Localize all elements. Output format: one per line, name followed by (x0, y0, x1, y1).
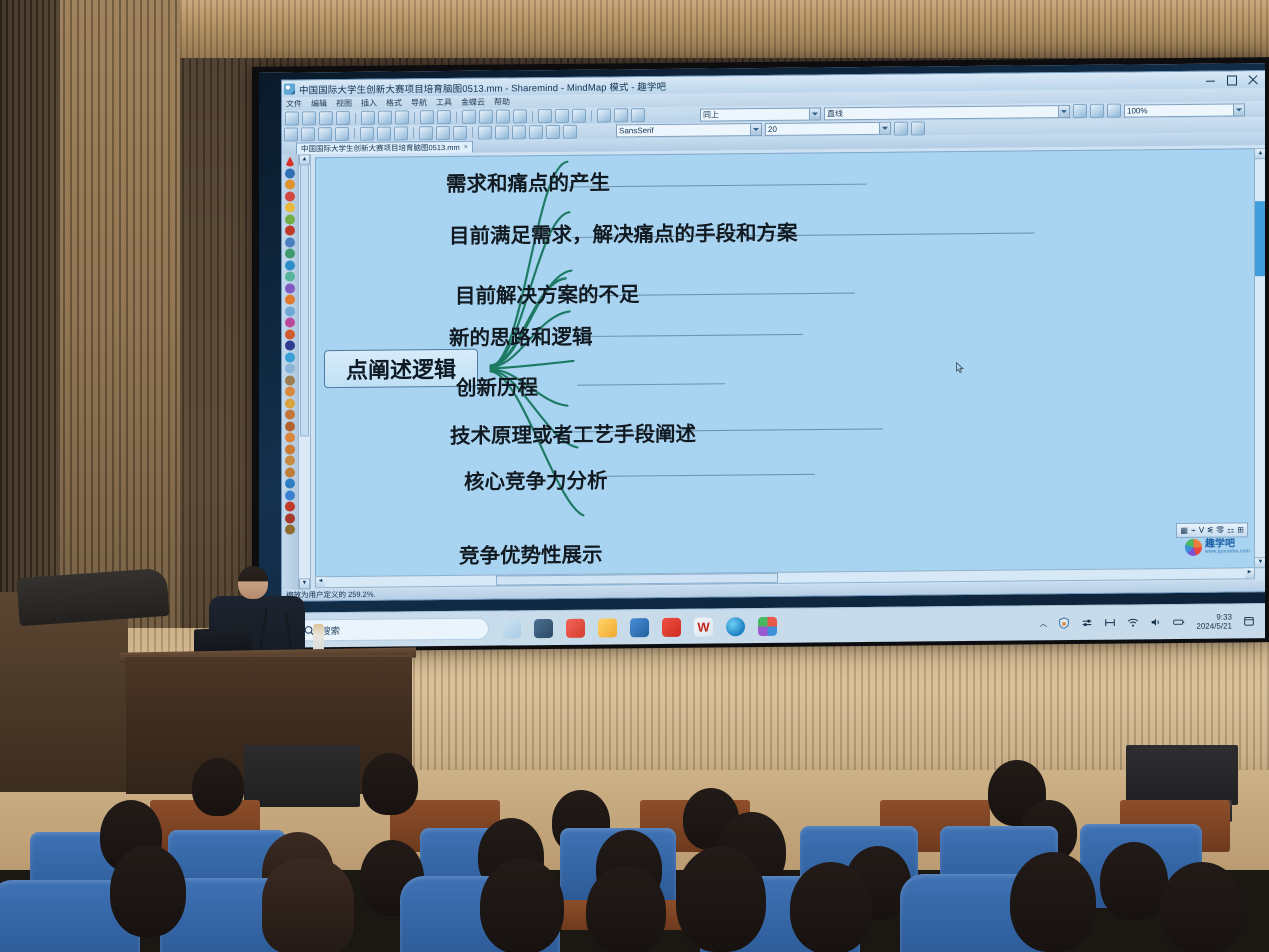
chevron-down-icon[interactable] (879, 123, 890, 134)
taskbar-search-input[interactable]: 搜索 (295, 618, 489, 642)
battery-icon[interactable] (1173, 616, 1185, 628)
quxueba-logo-icon (1185, 539, 1202, 556)
increase-font-icon[interactable] (478, 125, 492, 139)
toolbar-separator (354, 128, 355, 139)
toolbar-separator (413, 127, 414, 138)
taskbar-clock[interactable]: 9:33 2024/5/21 (1196, 612, 1232, 631)
mail-app-icon[interactable] (566, 618, 585, 637)
mindmap-node-7[interactable]: 核心竞争力分析 (464, 463, 608, 494)
ime-icon[interactable] (1081, 617, 1093, 629)
audience-head (362, 753, 418, 815)
scroll-down-button[interactable]: ▼ (1255, 557, 1265, 567)
toggle-folded-icon[interactable] (284, 127, 298, 141)
zoom-out-icon[interactable] (496, 109, 510, 123)
toolbar-separator (532, 111, 533, 122)
clock-date: 2024/5/21 (1196, 621, 1232, 631)
bulb-icon[interactable] (285, 202, 295, 212)
clock-icon[interactable] (285, 260, 295, 270)
projection-screen: 中国国际大学生创新大赛项目培育脑图0513.mm - Sharemind - M… (259, 63, 1265, 648)
gear-icon[interactable] (285, 444, 295, 454)
new-file-icon[interactable] (285, 111, 299, 125)
pencil-icon[interactable] (285, 375, 295, 385)
clock-time: 9:33 (1216, 612, 1232, 621)
bookmark-icon[interactable] (285, 501, 295, 511)
menu-item-tools[interactable]: 工具 (436, 97, 452, 108)
minimize-icon[interactable] (1205, 75, 1216, 86)
chevron-down-icon[interactable] (1058, 106, 1069, 117)
font-larger-icon[interactable] (538, 109, 552, 123)
export-icon[interactable] (336, 111, 350, 125)
style-select-value: 同上 (703, 109, 719, 120)
menu-item-help[interactable]: 帮助 (494, 96, 510, 107)
mini-pen-icon[interactable]: ⌁ (1191, 526, 1196, 535)
key-icon[interactable] (285, 524, 295, 534)
menu-item-edit[interactable]: 编辑 (311, 98, 327, 109)
user-icon[interactable] (285, 421, 295, 431)
icon-rail-scrollbar[interactable]: ▲ ▼ (298, 154, 311, 589)
file-explorer-icon[interactable] (534, 619, 553, 638)
folder-icon[interactable] (285, 455, 295, 465)
volume-icon[interactable] (1150, 616, 1162, 628)
undo-format-icon[interactable] (911, 121, 925, 135)
mini-grid-icon[interactable]: ▦ (1180, 526, 1188, 535)
undo-icon[interactable] (378, 111, 392, 125)
watermark-text: 趣学吧 www.quxueba.com (1205, 539, 1250, 554)
italic-toggle-icon[interactable] (512, 125, 526, 139)
mini-highlight-icon[interactable]: ᓬ (1207, 526, 1213, 535)
notification-icon[interactable] (1243, 615, 1255, 627)
weather-widget-icon[interactable] (502, 619, 521, 638)
info-icon[interactable] (285, 168, 295, 178)
close-icon[interactable] (1247, 74, 1258, 85)
font-name-value: SansSerif (619, 126, 654, 135)
copy-icon[interactable] (437, 110, 451, 124)
speaker-left (244, 745, 360, 807)
style-select[interactable]: 同上 (700, 107, 821, 121)
audience-head (1100, 842, 1168, 920)
document-tab[interactable]: 中国国际大学生创新大赛项目培育脑图0513.mm × (296, 140, 473, 154)
presenter-head (238, 566, 268, 599)
audience-head-front (1010, 852, 1096, 952)
check-icon[interactable] (285, 214, 295, 224)
quxueba-watermark: 趣学吧 www.quxueba.com (1185, 538, 1250, 556)
note-icon[interactable] (1073, 104, 1087, 118)
edge-browser-icon[interactable] (726, 617, 745, 636)
audience-head-front (676, 846, 766, 952)
watermark-url: www.quxueba.com (1205, 549, 1250, 554)
menu-item-format[interactable]: 格式 (386, 97, 402, 108)
zoom-value: 100% (1127, 106, 1147, 115)
scroll-right-button[interactable]: ► (1245, 568, 1254, 578)
cut-icon[interactable] (420, 110, 434, 124)
vertical-scroll-thumb[interactable] (1255, 201, 1265, 276)
line-style-value: 直线 (827, 108, 843, 119)
ceiling-wood-panel (0, 0, 1269, 66)
new-child-icon[interactable] (301, 127, 315, 141)
move-down-icon[interactable] (377, 126, 391, 140)
italic-icon[interactable] (572, 109, 586, 123)
text-align-icon[interactable] (894, 121, 908, 135)
attach-icon[interactable] (285, 363, 295, 373)
cloud-shape-icon[interactable] (419, 126, 433, 140)
window-controls[interactable] (1205, 74, 1265, 86)
line-style-select[interactable]: 直线 (824, 105, 1070, 120)
node-color-icon[interactable] (631, 108, 645, 122)
folder-app-icon[interactable] (598, 618, 617, 637)
globe-icon[interactable] (285, 478, 295, 488)
canvas-vertical-scrollbar[interactable]: ▲ ▼ (1254, 148, 1265, 568)
fit-map-icon[interactable] (513, 109, 527, 123)
phone-icon[interactable] (285, 329, 295, 339)
node-background-icon[interactable] (563, 124, 577, 138)
mini-more-icon[interactable]: ⚏ (1227, 525, 1234, 534)
wps-office-icon[interactable]: W (694, 617, 713, 636)
mindmap-node-3[interactable]: 目前解决方案的不足 (455, 277, 640, 309)
print-icon[interactable] (361, 111, 375, 125)
document-tab-label: 中国国际大学生创新大赛项目培育脑图0513.mm (301, 141, 460, 154)
speaker-right (1126, 745, 1238, 805)
font-smaller-icon[interactable] (555, 109, 569, 123)
font-size-select[interactable]: 20 (765, 122, 891, 136)
maximize-icon[interactable] (1226, 74, 1237, 85)
mindmap[interactable]: 点阐述逻辑 需求和痛点的产生 目前满足需求，解决痛点的手段和方案 目前解决方案的… (316, 149, 1254, 576)
save-icon[interactable] (319, 111, 333, 125)
toolbar-separator (472, 127, 473, 138)
help-icon[interactable] (285, 237, 295, 247)
menu-item-cloud[interactable]: 金蝶云 (461, 97, 485, 108)
new-sibling-icon[interactable] (318, 127, 332, 141)
mindmap-canvas[interactable]: 点阐述逻辑 需求和痛点的产生 目前满足需求，解决痛点的手段和方案 目前解决方案的… (315, 148, 1255, 577)
hyperlink-icon[interactable] (394, 126, 408, 140)
bold-icon[interactable] (597, 108, 611, 122)
toolbar-separator (456, 111, 457, 122)
idea-icon[interactable] (285, 179, 295, 189)
zoom-select[interactable]: 100% (1124, 103, 1245, 117)
mindmap-node-1[interactable]: 需求和痛点的产生 (446, 165, 610, 197)
face-sad-icon[interactable] (285, 409, 295, 419)
link-icon[interactable] (285, 352, 295, 362)
menu-item-file[interactable]: 文件 (286, 98, 302, 109)
scissors-icon[interactable] (614, 108, 628, 122)
bold-toggle-icon[interactable] (529, 125, 543, 139)
decrease-font-icon[interactable] (495, 125, 509, 139)
lock-icon[interactable] (1107, 104, 1121, 118)
mini-shape-icon[interactable]: ᐯ (1199, 526, 1204, 535)
audience-head (192, 758, 244, 816)
scene-root: 中国国际大学生创新大赛项目培育脑图0513.mm - Sharemind - M… (0, 0, 1269, 952)
icon-palette-rail[interactable] (282, 154, 298, 589)
remove-format-icon[interactable] (546, 124, 560, 138)
find-icon[interactable] (462, 110, 476, 124)
audience-head-front (480, 858, 564, 952)
star-icon[interactable] (285, 294, 295, 304)
toolbar-separator (414, 112, 415, 123)
bubble-shape-icon[interactable] (436, 125, 450, 139)
priority-icon[interactable] (285, 156, 295, 166)
move-up-icon[interactable] (360, 126, 374, 140)
group-icon[interactable] (285, 432, 295, 442)
mini-close-icon[interactable]: ⊞ (1237, 525, 1244, 534)
system-tray[interactable]: ︿ (1039, 612, 1255, 632)
mouse-cursor-icon (956, 362, 964, 373)
mixer-icon[interactable] (1104, 617, 1116, 629)
scroll-down-icon[interactable]: ▼ (299, 578, 310, 589)
flag-icon[interactable] (285, 283, 295, 293)
audience-head-front (110, 845, 186, 937)
mindmap-application-window[interactable]: 中国国际大学生创新大赛项目培育脑图0513.mm - Sharemind - M… (281, 70, 1265, 601)
cloud-sync-icon[interactable] (1090, 104, 1104, 118)
chevron-down-icon[interactable] (750, 124, 761, 135)
horizontal-scroll-thumb[interactable] (496, 573, 778, 586)
toolbar-separator (591, 110, 592, 121)
audience-head-front (790, 862, 872, 952)
stop-icon[interactable] (285, 191, 295, 201)
menu-item-view[interactable]: 视图 (336, 98, 352, 109)
font-size-value: 20 (768, 125, 777, 134)
wifi-icon[interactable] (1127, 616, 1139, 628)
mindmap-node-6[interactable]: 技术原理或者工艺手段阐述 (450, 417, 696, 449)
workspace: ▲ ▼ (282, 145, 1265, 589)
scroll-thumb[interactable] (300, 164, 309, 436)
floating-mini-toolbar[interactable]: ▦ ⌁ ᐯ ᓬ 零 ⚏ ⊞ (1176, 522, 1248, 538)
left-wall-dark-strip (0, 0, 60, 640)
chevron-down-icon[interactable] (809, 108, 820, 119)
audience-head-front (1160, 862, 1244, 952)
heart-icon[interactable] (285, 317, 295, 327)
mindmap-node-8[interactable]: 竞争优势性展示 (459, 538, 603, 569)
chevron-down-icon[interactable] (1233, 104, 1244, 115)
font-name-select[interactable]: SansSerif (616, 123, 762, 137)
menu-item-insert[interactable]: 插入 (361, 98, 377, 109)
mini-text-icon[interactable]: 零 (1216, 525, 1224, 536)
mindmap-node-4[interactable]: 新的思路和逻辑 (449, 320, 593, 351)
close-tab-icon[interactable]: × (464, 143, 468, 150)
mindmap-node-2[interactable]: 目前满足需求，解决痛点的手段和方案 (449, 216, 798, 249)
audience-head-front (262, 858, 354, 952)
redo-icon[interactable] (395, 110, 409, 124)
face-smile-icon[interactable] (285, 386, 295, 396)
delete-node-icon[interactable] (335, 126, 349, 140)
sharemind-icon (284, 83, 295, 94)
photos-app-icon[interactable] (758, 616, 777, 635)
taskbar-app-icons[interactable]: W (502, 616, 777, 638)
pin-icon[interactable] (285, 513, 295, 523)
pdf-reader-icon[interactable] (662, 617, 681, 636)
mail-icon[interactable] (285, 306, 295, 316)
speaker-icon[interactable] (285, 490, 295, 500)
toolbar-separator (355, 112, 356, 123)
ok-icon[interactable] (285, 248, 295, 258)
fork-shape-icon[interactable] (453, 125, 467, 139)
menu-item-navigate[interactable]: 导航 (411, 97, 427, 108)
chevron-up-icon[interactable]: ︿ (1039, 618, 1047, 629)
open-file-icon[interactable] (302, 111, 316, 125)
cross-icon[interactable] (285, 225, 295, 235)
doc-icon[interactable] (285, 467, 295, 477)
scroll-up-button[interactable]: ▲ (1255, 149, 1265, 159)
canvas-area[interactable]: 点阐述逻辑 需求和痛点的产生 目前满足需求，解决痛点的手段和方案 目前解决方案的… (311, 145, 1265, 589)
mindmap-root-node[interactable]: 点阐述逻辑 (324, 349, 478, 388)
store-app-icon[interactable] (630, 618, 649, 637)
zoom-in-icon[interactable] (479, 110, 493, 124)
calendar-icon[interactable] (285, 271, 295, 281)
audience-head-front (586, 866, 666, 952)
security-icon[interactable] (1058, 617, 1070, 629)
scroll-left-button[interactable]: ◄ (316, 577, 325, 587)
mindmap-node-5[interactable]: 创新历程 (456, 370, 538, 401)
face-neutral-icon[interactable] (285, 398, 295, 408)
target-icon[interactable] (285, 340, 295, 350)
